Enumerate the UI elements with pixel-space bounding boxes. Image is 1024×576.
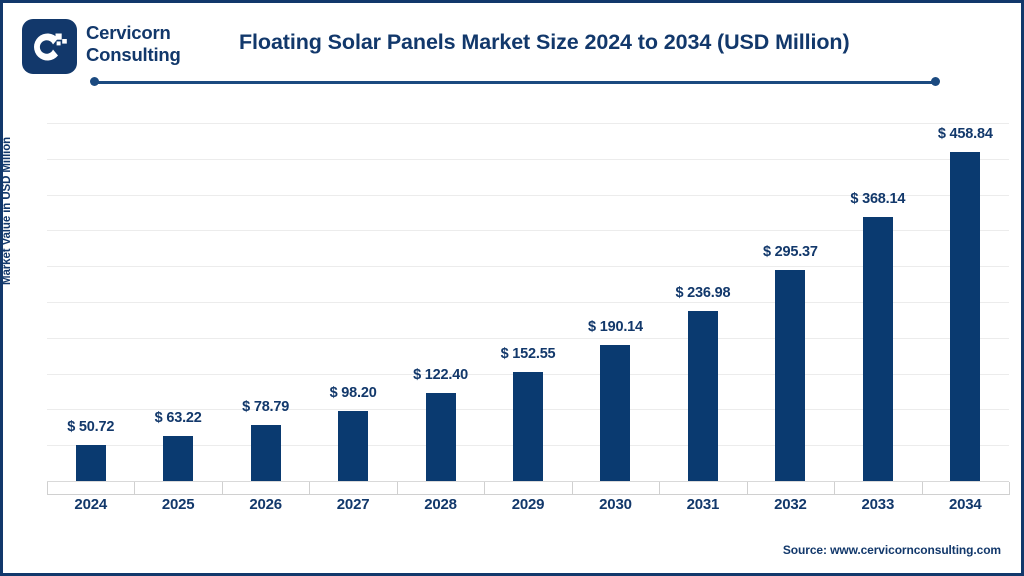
bar [76,445,106,481]
chart-plot-area [47,113,1009,483]
bar-value-label: $ 190.14 [588,319,643,335]
x-axis-tick [922,482,923,495]
x-axis-tick [484,482,485,495]
chart-infographic: Cervicorn Consulting Floating Solar Pane… [0,0,1024,576]
x-axis-tick [1009,482,1010,495]
x-axis-label: 2025 [162,496,195,513]
bar [338,411,368,481]
x-axis-label: 2029 [512,496,545,513]
bar-value-label: $ 152.55 [501,346,556,362]
bar [426,393,456,481]
gridline [47,159,1009,160]
chart-baseline [47,481,1009,482]
x-axis-label: 2034 [949,496,982,513]
bar [163,436,193,481]
bar [863,217,893,481]
x-axis-label: 2028 [424,496,457,513]
bar [513,372,543,481]
bar [688,311,718,481]
brand-name: Cervicorn Consulting [86,22,181,65]
x-axis-label: 2027 [337,496,370,513]
x-axis-tick [572,482,573,495]
x-axis-label: 2024 [74,496,107,513]
divider-dot-right-icon [931,77,940,86]
bar-value-label: $ 50.72 [67,419,114,435]
header: Cervicorn Consulting Floating Solar Pane… [3,3,1024,75]
bar-value-label: $ 368.14 [850,191,905,207]
page-title: Floating Solar Panels Market Size 2024 t… [239,30,999,55]
brand-name-line1: Cervicorn [86,22,181,44]
bar-value-label: $ 63.22 [155,410,202,426]
x-axis-tick [747,482,748,495]
x-axis-label: 2033 [862,496,895,513]
bar [950,152,980,481]
y-axis-title: Market Value in USD Million [1,137,13,285]
bar-value-label: $ 236.98 [675,285,730,301]
x-axis-label: 2030 [599,496,632,513]
bar [600,345,630,481]
bar-value-label: $ 78.79 [242,399,289,415]
x-axis-tick [659,482,660,495]
x-axis-label: 2032 [774,496,807,513]
x-axis-label: 2026 [249,496,282,513]
bar [775,270,805,481]
brand-name-line2: Consulting [86,44,181,66]
x-axis-tick [47,482,48,495]
bar-value-label: $ 295.37 [763,244,818,260]
bar [251,425,281,481]
header-divider [93,81,935,84]
x-axis-label: 2031 [687,496,720,513]
x-axis-line [47,494,1009,495]
x-axis-tick [309,482,310,495]
source-note: Source: www.cervicornconsulting.com [783,543,1001,557]
x-axis-tick [222,482,223,495]
divider-dot-left-icon [90,77,99,86]
x-axis-tick [134,482,135,495]
bar-value-label: $ 122.40 [413,367,468,383]
x-axis-tick [834,482,835,495]
gridline [47,123,1009,124]
bar-value-label: $ 458.84 [938,126,993,142]
x-axis-tick [397,482,398,495]
bar-value-label: $ 98.20 [330,385,377,401]
cervicorn-c-logo-icon [22,19,77,74]
